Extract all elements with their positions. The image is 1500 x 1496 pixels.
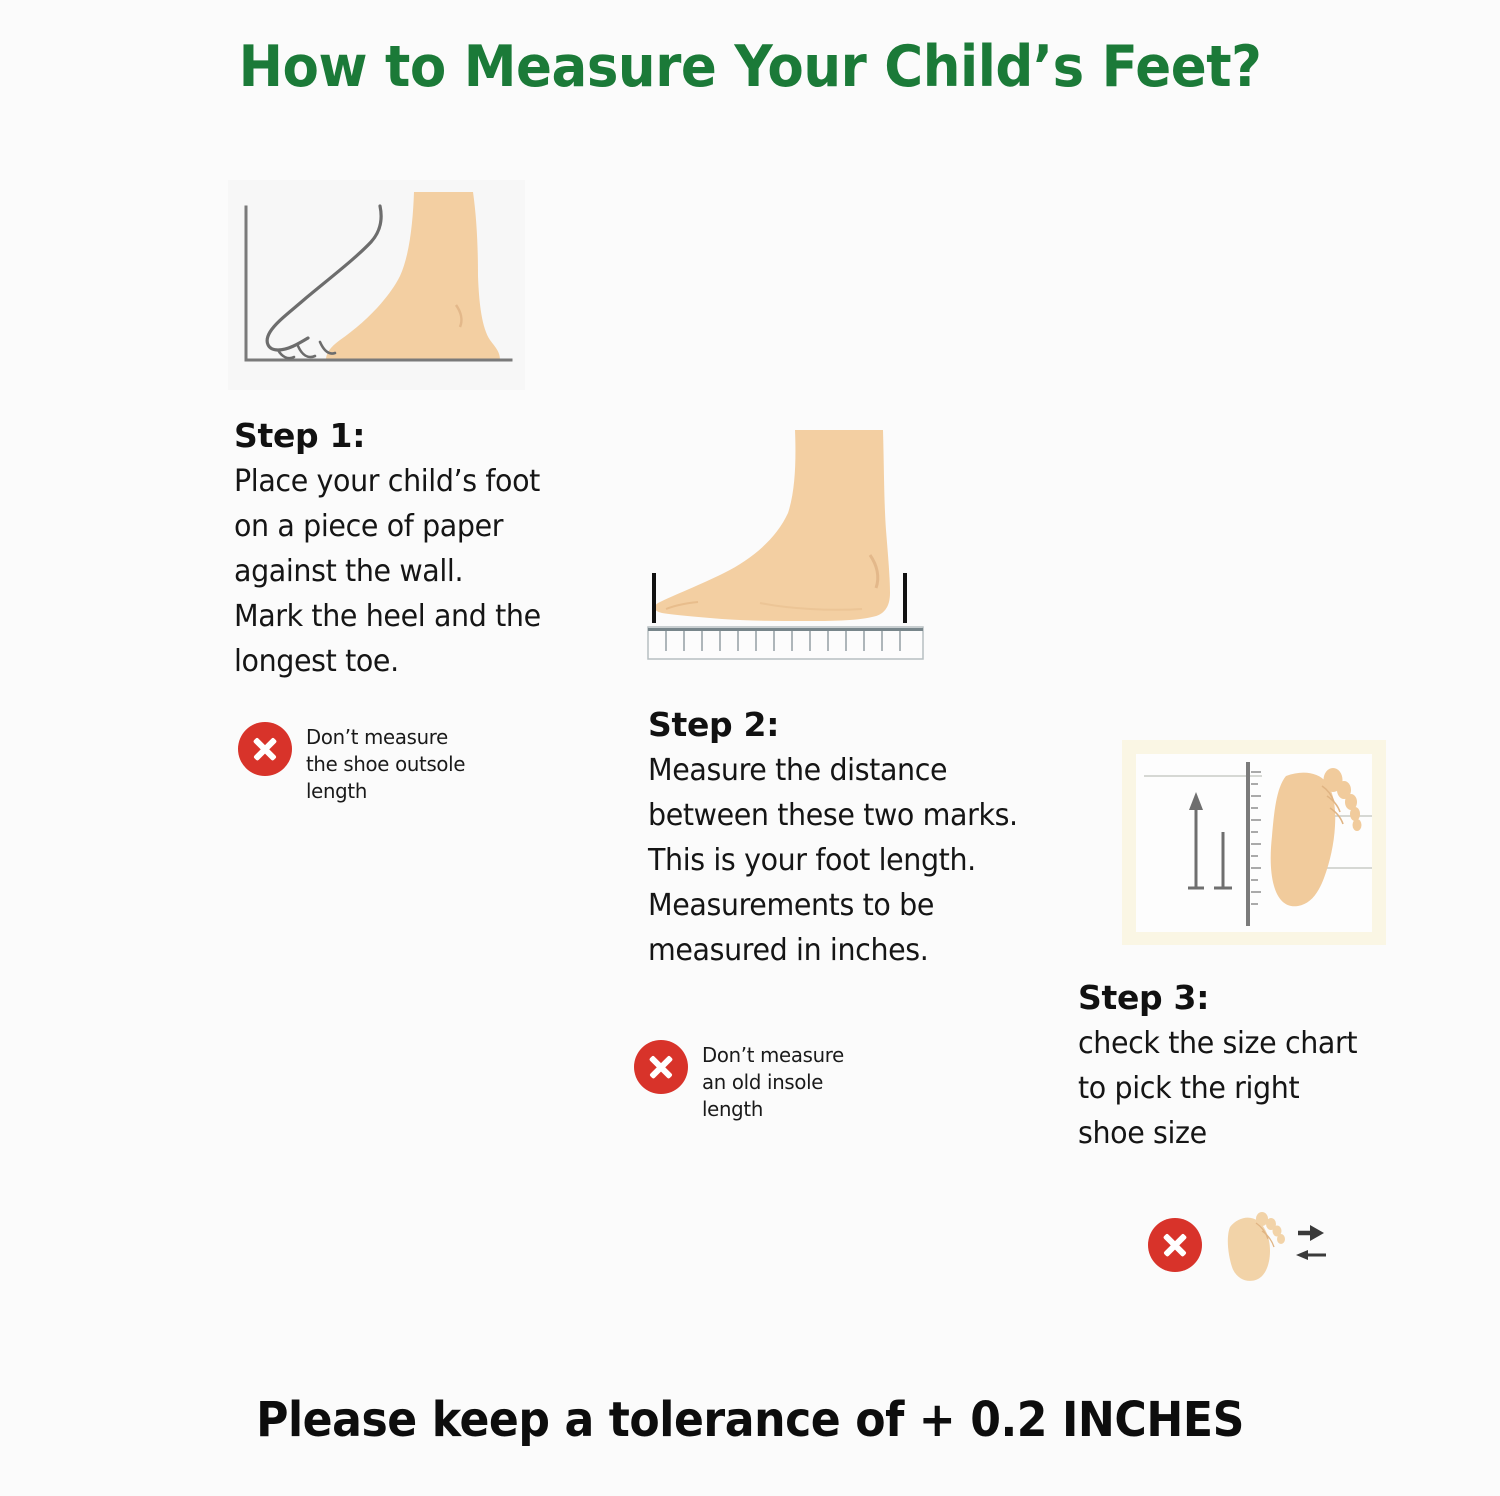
- step-3-warning-icons: [1220, 1205, 1330, 1285]
- step-1-line-1: Place your child’s foot: [234, 461, 548, 502]
- foot-with-ruler-illustration: [640, 425, 940, 665]
- step-2-line-4: Measurements to be: [648, 885, 1066, 926]
- arrow-left-icon: [1296, 1250, 1326, 1260]
- toe-5: [1353, 819, 1362, 831]
- step2-illustration: [640, 425, 940, 665]
- toe-4: [1350, 807, 1360, 821]
- footprint-on-size-chart-illustration: [1122, 740, 1386, 945]
- step-1-line-2: on a piece of paper: [234, 506, 548, 547]
- measure-feet-infographic: How to Measure Your Child’s Feet? Step 1…: [0, 0, 1500, 1496]
- step-1-warning-line-1: Don’t measure: [306, 724, 465, 751]
- step-2-warning-line-2: an old insole: [702, 1069, 844, 1096]
- vertical-ruler-bar: [1246, 762, 1250, 926]
- red-x-circle-icon: [1148, 1218, 1202, 1272]
- foot-shape: [655, 430, 890, 621]
- page-title: How to Measure Your Child’s Feet?: [53, 34, 1448, 100]
- red-x-circle-icon: [238, 722, 292, 776]
- step-3-heading: Step 3:: [1078, 978, 1418, 1017]
- step-2-body: Measure the distance between these two m…: [648, 750, 1066, 971]
- step-3-block: Step 3: check the size chart to pick the…: [1078, 978, 1418, 1154]
- step-2-warning-line-3: length: [702, 1096, 844, 1123]
- red-x-circle-icon: [634, 1040, 688, 1094]
- step-1-warning-text: Don’t measure the shoe outsole length: [306, 722, 465, 805]
- tolerance-note: Please keep a tolerance of + 0.2 INCHES: [60, 1392, 1440, 1448]
- step-2-line-2: between these two marks.: [648, 795, 1066, 836]
- step-3-line-3: shoe size: [1078, 1113, 1401, 1154]
- step-2-line-5: measured in inches.: [648, 930, 1066, 971]
- step-2-warning: Don’t measure an old insole length: [634, 1040, 934, 1123]
- step-1-warning-line-2: the shoe outsole: [306, 751, 465, 778]
- step-2-warning-line-1: Don’t measure: [702, 1042, 844, 1069]
- step-1-block: Step 1: Place your child’s foot on a pie…: [234, 416, 564, 682]
- step-3-warning: [1148, 1205, 1368, 1285]
- step-1-warning: Don’t measure the shoe outsole length: [238, 722, 518, 805]
- step-1-line-3: against the wall.: [234, 551, 548, 592]
- step-1-heading: Step 1:: [234, 416, 564, 455]
- step-3-line-2: to pick the right: [1078, 1068, 1401, 1109]
- step-2-line-1: Measure the distance: [648, 750, 1066, 791]
- step-3-line-1: check the size chart: [1078, 1023, 1401, 1064]
- foot-shape: [326, 192, 500, 360]
- step-2-heading: Step 2:: [648, 705, 1088, 744]
- footprint-icon: [1228, 1218, 1270, 1281]
- toe-4: [1277, 1234, 1285, 1244]
- side-foot-against-wall-illustration: [228, 180, 525, 390]
- step-2-block: Step 2: Measure the distance between the…: [648, 705, 1088, 971]
- arrow-right-icon: [1298, 1225, 1324, 1241]
- step-1-body: Place your child’s foot on a piece of pa…: [234, 461, 548, 682]
- step-2-line-3: This is your foot length.: [648, 840, 1066, 881]
- step1-illustration: [228, 180, 525, 390]
- step-1-line-5: longest toe.: [234, 641, 548, 682]
- step-3-body: check the size chart to pick the right s…: [1078, 1023, 1401, 1154]
- step-1-line-4: Mark the heel and the: [234, 596, 548, 637]
- step-1-warning-line-3: length: [306, 778, 465, 805]
- step-2-warning-text: Don’t measure an old insole length: [702, 1040, 844, 1123]
- step3-illustration: [1122, 740, 1386, 945]
- toe-bump-2: [298, 346, 315, 357]
